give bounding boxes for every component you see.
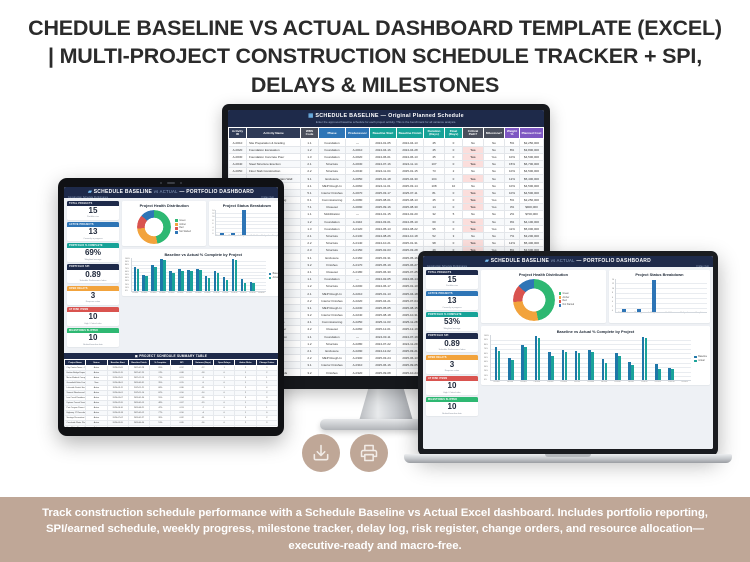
table-cell[interactable]: Yes bbox=[463, 218, 484, 225]
table-cell[interactable]: No bbox=[463, 168, 484, 175]
bar[interactable] bbox=[226, 280, 229, 291]
table-cell[interactable]: Yes bbox=[484, 153, 505, 160]
table-cell[interactable]: MEP Rough-In bbox=[319, 355, 346, 362]
project-summary-table[interactable]: Project NameStatusBaseline StartBaseline… bbox=[64, 359, 278, 427]
bar[interactable] bbox=[220, 233, 224, 235]
table-row[interactable]: A-0010Site Preparation & Grading1.1Found… bbox=[229, 139, 544, 146]
table-cell[interactable]: No bbox=[484, 218, 505, 225]
table-cell[interactable]: $2,250,000 bbox=[520, 196, 544, 203]
table-cell[interactable]: 2025-03-17 bbox=[370, 189, 397, 196]
table-cell[interactable]: 0 bbox=[445, 153, 463, 160]
tablet-baseline-actual-card[interactable]: Baseline vs Actual % Complete by Project… bbox=[122, 249, 278, 296]
table-cell[interactable]: Foundation Excavation bbox=[247, 146, 301, 153]
table-cell[interactable]: 2025-12-13 bbox=[128, 425, 149, 427]
table-cell[interactable]: A-0290 bbox=[346, 347, 370, 354]
bar[interactable] bbox=[252, 283, 255, 291]
table-cell[interactable]: 2025-08-01 bbox=[370, 196, 397, 203]
table-cell[interactable]: $3,200,000 bbox=[520, 232, 544, 239]
baseline-vs-actual-bar-chart[interactable]: 100%90%80%70%60%50%40%30%20%10%0%PRJ-001… bbox=[125, 258, 278, 294]
table-cell[interactable]: 2.2 bbox=[301, 355, 319, 362]
table-cell[interactable]: Mobilization bbox=[319, 211, 346, 218]
table-cell[interactable]: 10% bbox=[505, 182, 520, 189]
bar-pair[interactable] bbox=[205, 276, 211, 291]
table-cell[interactable]: 2025-03-24 bbox=[370, 355, 397, 362]
table-cell[interactable]: Foundation bbox=[319, 139, 346, 146]
table-cell[interactable]: 2024-02-05 bbox=[370, 276, 397, 283]
table-cell[interactable]: 1.3 bbox=[301, 153, 319, 160]
table-cell[interactable]: A-0140 bbox=[346, 240, 370, 247]
table-cell[interactable]: 0 bbox=[214, 425, 235, 427]
table-cell[interactable]: Structure bbox=[319, 232, 346, 239]
bar[interactable] bbox=[511, 360, 514, 380]
table-cell[interactable]: $5,400,000 bbox=[520, 175, 544, 182]
table-cell[interactable]: 2024-12-02 bbox=[370, 347, 397, 354]
table-cell[interactable]: 107 bbox=[424, 161, 445, 168]
table-cell[interactable]: 0 bbox=[445, 189, 463, 196]
bar[interactable] bbox=[244, 283, 247, 292]
table-cell[interactable]: 60 bbox=[424, 218, 445, 225]
bar[interactable] bbox=[524, 347, 527, 380]
table-cell[interactable]: 2025-04-30 bbox=[397, 175, 424, 182]
table-cell[interactable]: $4,500,000 bbox=[520, 189, 544, 196]
table-cell[interactable]: 0 bbox=[445, 139, 463, 146]
table-cell[interactable]: 73 bbox=[424, 168, 445, 175]
table-cell[interactable]: 0 bbox=[445, 161, 463, 168]
table-cell[interactable]: 2024-11-04 bbox=[370, 168, 397, 175]
table-cell[interactable]: No bbox=[463, 232, 484, 239]
table-cell[interactable]: A-0070 bbox=[346, 189, 370, 196]
bar[interactable] bbox=[671, 369, 674, 380]
kpi-card[interactable]: TOTAL PROJECTS15Portfolio size bbox=[426, 270, 478, 289]
table-cell[interactable]: 9% bbox=[505, 218, 520, 225]
table-cell[interactable]: $700,000 bbox=[520, 211, 544, 218]
bar[interactable] bbox=[538, 338, 541, 380]
table-cell[interactable]: 108 bbox=[424, 182, 445, 189]
bar[interactable] bbox=[217, 273, 220, 291]
bar-pair[interactable] bbox=[548, 352, 554, 380]
bar[interactable] bbox=[145, 276, 148, 291]
table-cell[interactable]: $4,500,000 bbox=[520, 153, 544, 160]
bar-pair[interactable] bbox=[521, 345, 527, 380]
table-cell[interactable]: 2024-02-20 bbox=[397, 211, 424, 218]
table-cell[interactable]: Enclosure bbox=[319, 347, 346, 354]
table-cell[interactable]: Yes bbox=[463, 175, 484, 182]
bar-pair[interactable] bbox=[223, 277, 229, 291]
column-header[interactable]: Float (Days) bbox=[445, 128, 463, 139]
table-cell[interactable]: Structure bbox=[319, 283, 346, 290]
bar[interactable] bbox=[637, 309, 641, 311]
table-cell[interactable]: $4,100,000 bbox=[520, 218, 544, 225]
table-cell[interactable]: 2025-08-18 bbox=[370, 311, 397, 318]
kpi-card[interactable]: AT RISK ITEMS10High / Critical risks bbox=[67, 307, 119, 326]
table-cell[interactable]: Active bbox=[86, 425, 107, 427]
table-cell[interactable]: Yes bbox=[484, 225, 505, 232]
table-cell[interactable]: 2025-11-03 bbox=[370, 319, 397, 326]
bar[interactable] bbox=[199, 270, 202, 291]
bar-pair[interactable] bbox=[214, 271, 220, 291]
table-cell[interactable]: Yes bbox=[463, 153, 484, 160]
bar[interactable] bbox=[498, 351, 501, 380]
table-row[interactable]: A-0020Foundation Excavation1.2Foundation… bbox=[229, 146, 544, 153]
table-cell[interactable]: Enclosure bbox=[319, 254, 346, 261]
table-cell[interactable]: — bbox=[346, 276, 370, 283]
table-cell[interactable]: Structure bbox=[319, 168, 346, 175]
table-cell[interactable]: 1.2 bbox=[301, 340, 319, 347]
kpi-card[interactable]: ACTIVE PROJECTS13Currently in progress bbox=[67, 222, 119, 241]
bar[interactable] bbox=[551, 356, 554, 380]
table-cell[interactable]: 45 bbox=[424, 139, 445, 146]
table-cell[interactable]: 14 bbox=[424, 204, 445, 211]
table-cell[interactable]: A-0160 bbox=[346, 254, 370, 261]
table-cell[interactable]: 2025-08-30 bbox=[397, 204, 424, 211]
table-cell[interactable]: 2024-06-13 bbox=[397, 153, 424, 160]
kpi-card[interactable]: ACTIVE PROJECTS13Currently in progress bbox=[426, 291, 478, 310]
bar-pair[interactable] bbox=[668, 368, 674, 380]
table-cell[interactable]: 81 bbox=[424, 189, 445, 196]
bar[interactable] bbox=[242, 210, 246, 234]
bar-pair[interactable] bbox=[508, 358, 514, 380]
kpi-card[interactable]: MILESTONES SLIPPED10Behind baseline date bbox=[426, 397, 478, 416]
table-cell[interactable]: 5.1 bbox=[301, 189, 319, 196]
table-cell[interactable]: 2024-11-01 bbox=[370, 182, 397, 189]
table-cell[interactable]: — bbox=[346, 333, 370, 340]
table-cell[interactable]: 2024-06-17 bbox=[370, 283, 397, 290]
column-header[interactable]: Duration (Days) bbox=[424, 128, 445, 139]
table-cell[interactable]: 2025-02-03 bbox=[370, 247, 397, 254]
table-cell[interactable]: $900,000 bbox=[520, 204, 544, 211]
table-cell[interactable]: No bbox=[484, 146, 505, 153]
table-cell[interactable]: 4.1 bbox=[301, 182, 319, 189]
table-cell[interactable]: A-0250 bbox=[346, 319, 370, 326]
table-cell[interactable]: Yes bbox=[463, 196, 484, 203]
table-cell[interactable]: A-0280 bbox=[346, 340, 370, 347]
bar-pair[interactable] bbox=[562, 350, 568, 380]
table-cell[interactable]: 0.91 bbox=[171, 425, 192, 427]
table-cell[interactable]: 3.1 bbox=[301, 362, 319, 369]
bar[interactable] bbox=[652, 280, 656, 312]
bar[interactable] bbox=[181, 271, 184, 291]
bar[interactable] bbox=[154, 267, 157, 291]
table-cell[interactable]: 10% bbox=[505, 168, 520, 175]
table-cell[interactable]: Foundation bbox=[319, 218, 346, 225]
table-cell[interactable]: 2.2 bbox=[301, 240, 319, 247]
table-cell[interactable]: 1.2 bbox=[301, 146, 319, 153]
bar[interactable] bbox=[235, 260, 238, 291]
table-cell[interactable]: Yes bbox=[484, 196, 505, 203]
table-cell[interactable]: A-0120 bbox=[346, 225, 370, 232]
table-cell[interactable]: A-0050 bbox=[346, 175, 370, 182]
kpi-card[interactable]: TOTAL PROJECTS15Portfolio size bbox=[67, 201, 119, 220]
table-cell[interactable]: 10% bbox=[505, 153, 520, 160]
table-cell[interactable]: 1.1 bbox=[301, 211, 319, 218]
table-row[interactable]: A-0050Floor Slab Construction2.2Structur… bbox=[229, 168, 544, 175]
table-cell[interactable]: A-0060 bbox=[346, 182, 370, 189]
table-cell[interactable]: 3.1 bbox=[301, 175, 319, 182]
kpi-card[interactable]: PORTFOLIO % COMPLETE53%Weighted average bbox=[426, 312, 478, 331]
table-cell[interactable]: No bbox=[463, 211, 484, 218]
table-cell[interactable]: Interior Finishes bbox=[319, 297, 346, 304]
table-cell[interactable]: Foundation bbox=[319, 146, 346, 153]
table-cell[interactable]: A-0230 bbox=[346, 304, 370, 311]
table-cell[interactable]: A-0010 bbox=[346, 146, 370, 153]
table-cell[interactable]: 4.1 bbox=[301, 268, 319, 275]
table-cell[interactable]: 2025-01-18 bbox=[370, 175, 397, 182]
table-cell[interactable]: 2025-05-19 bbox=[370, 261, 397, 268]
table-cell[interactable]: Steel Structure Erection bbox=[247, 161, 301, 168]
bar-pair[interactable] bbox=[655, 364, 661, 380]
bar-pair[interactable] bbox=[615, 353, 621, 380]
table-cell[interactable]: 2025-07-11 bbox=[397, 189, 424, 196]
table-cell[interactable]: $5,400,000 bbox=[520, 240, 544, 247]
bar-pair[interactable] bbox=[588, 350, 594, 380]
column-header[interactable]: Activity ID bbox=[229, 128, 247, 139]
table-cell[interactable]: 2024-08-22 bbox=[397, 225, 424, 232]
table-cell[interactable]: A-0310 bbox=[346, 362, 370, 369]
table-cell[interactable]: 2024-04-16 bbox=[370, 146, 397, 153]
table-cell[interactable]: 2.2 bbox=[301, 297, 319, 304]
column-header[interactable]: Critical Path? bbox=[463, 128, 484, 139]
table-cell[interactable]: 8% bbox=[505, 146, 520, 153]
table-cell[interactable]: 104 bbox=[424, 175, 445, 182]
table-cell[interactable]: 2025-01-31 bbox=[397, 240, 424, 247]
bar[interactable] bbox=[231, 233, 235, 235]
table-cell[interactable]: 2025-09-16 bbox=[370, 204, 397, 211]
table-cell[interactable]: A-0040 bbox=[229, 161, 247, 168]
table-cell[interactable]: No bbox=[484, 182, 505, 189]
table-cell[interactable]: 2024-01-15 bbox=[370, 211, 397, 218]
column-header[interactable]: Phase bbox=[319, 128, 346, 139]
bar-pair[interactable] bbox=[602, 359, 608, 380]
project-status-bar-chart[interactable]: 14121086420Not StartedPlanningIn Progres… bbox=[212, 210, 278, 238]
table-cell[interactable]: Finishes bbox=[319, 369, 346, 376]
table-cell[interactable]: 2024-10-18 bbox=[397, 232, 424, 239]
table-cell[interactable]: No bbox=[484, 175, 505, 182]
table-cell[interactable]: Interior Finishes bbox=[319, 189, 346, 196]
table-cell[interactable]: 2024-05-13 bbox=[370, 225, 397, 232]
bar-pair[interactable] bbox=[134, 267, 140, 291]
table-cell[interactable]: 1 bbox=[235, 425, 256, 427]
kpi-card[interactable]: OPEN DELAYS3Requires action bbox=[426, 355, 478, 374]
table-cell[interactable]: 0 bbox=[445, 175, 463, 182]
table-cell[interactable]: No bbox=[484, 161, 505, 168]
bar[interactable] bbox=[622, 309, 626, 311]
table-cell[interactable]: A-0010 bbox=[229, 139, 247, 146]
bar-pair[interactable] bbox=[151, 265, 157, 291]
table-cell[interactable]: 45 bbox=[424, 196, 445, 203]
table-cell[interactable]: 2025-05-05 bbox=[370, 304, 397, 311]
table-cell[interactable]: MEP Rough-In bbox=[319, 182, 346, 189]
bar[interactable] bbox=[658, 369, 661, 381]
table-cell[interactable]: A-0020 bbox=[229, 146, 247, 153]
table-cell[interactable]: 2025-08-13 bbox=[397, 196, 424, 203]
table-cell[interactable]: 2024-06-01 bbox=[370, 153, 397, 160]
table-cell[interactable]: Yes bbox=[463, 204, 484, 211]
table-cell[interactable]: 2025-06-30 bbox=[370, 268, 397, 275]
table-cell[interactable]: Interior Finishes bbox=[319, 362, 346, 369]
table-cell[interactable]: 2.3 bbox=[301, 247, 319, 254]
table-cell[interactable]: Structure bbox=[319, 161, 346, 168]
print-button[interactable] bbox=[350, 434, 388, 472]
table-cell[interactable]: A-0300 bbox=[346, 355, 370, 362]
column-header[interactable]: Baseline Finish bbox=[397, 128, 424, 139]
table-cell[interactable]: 4.1 bbox=[301, 319, 319, 326]
table-cell[interactable]: 2024-10-21 bbox=[370, 240, 397, 247]
table-cell[interactable]: 45 bbox=[424, 146, 445, 153]
table-cell[interactable]: Site Preparation & Grading bbox=[247, 139, 301, 146]
table-cell[interactable]: 3.1 bbox=[301, 304, 319, 311]
table-cell[interactable]: $4,500,000 bbox=[520, 182, 544, 189]
table-cell[interactable]: 3.2 bbox=[301, 369, 319, 376]
table-cell[interactable]: 5 bbox=[445, 211, 463, 218]
table-cell[interactable]: Yes bbox=[463, 161, 484, 168]
download-button[interactable] bbox=[302, 434, 340, 472]
baseline-vs-actual-bar-chart[interactable]: 100%90%80%70%60%50%40%30%20%10%0%PRJ-001… bbox=[484, 335, 707, 383]
table-cell[interactable]: 2025-01-13 bbox=[370, 290, 397, 297]
table-cell[interactable]: 3.1 bbox=[301, 254, 319, 261]
table-cell[interactable]: 2025-01-15 bbox=[397, 168, 424, 175]
bar-pair[interactable] bbox=[535, 336, 541, 380]
bar[interactable] bbox=[605, 363, 608, 380]
column-header[interactable]: WBS Code bbox=[301, 128, 319, 139]
table-cell[interactable]: No bbox=[484, 139, 505, 146]
table-cell[interactable]: $2,250,000 bbox=[520, 139, 544, 146]
table-cell[interactable]: Closeout bbox=[319, 326, 346, 333]
table-cell[interactable]: A-0150 bbox=[346, 247, 370, 254]
table-cell[interactable]: 45 bbox=[424, 153, 445, 160]
table-cell[interactable]: Finishes bbox=[319, 261, 346, 268]
column-header[interactable]: Predecessor bbox=[346, 128, 370, 139]
table-cell[interactable]: Commissioning bbox=[319, 196, 346, 203]
table-cell[interactable]: No bbox=[463, 139, 484, 146]
table-cell[interactable]: 2025-06-16 bbox=[370, 362, 397, 369]
table-cell[interactable]: 15% bbox=[505, 161, 520, 168]
table-cell[interactable]: 2024-04-28 bbox=[397, 146, 424, 153]
table-cell[interactable]: Closeout bbox=[319, 268, 346, 275]
laptop-health-donut-card[interactable]: Project Health Distribution GreenAmberRe… bbox=[481, 270, 606, 324]
table-cell[interactable]: 0 bbox=[445, 240, 463, 247]
table-cell[interactable]: 2.1 bbox=[301, 232, 319, 239]
table-cell[interactable]: Foundation bbox=[319, 276, 346, 283]
bar-pair[interactable] bbox=[160, 259, 166, 291]
table-cell[interactable]: No bbox=[484, 240, 505, 247]
table-cell[interactable]: Yes bbox=[463, 225, 484, 232]
table-cell[interactable]: 2 bbox=[445, 168, 463, 175]
table-cell[interactable]: 2.1 bbox=[301, 347, 319, 354]
project-status-bar-chart[interactable]: 14121086420Not StartedPlanningIn Progres… bbox=[612, 279, 707, 315]
bar-pair[interactable] bbox=[628, 362, 634, 380]
bar-pair[interactable] bbox=[642, 337, 648, 380]
project-health-donut[interactable] bbox=[513, 279, 555, 321]
table-cell[interactable]: 2025-03-31 bbox=[370, 254, 397, 261]
table-cell[interactable]: Briar Ridge Renovations bbox=[65, 425, 86, 427]
table-cell[interactable]: A-0080 bbox=[346, 196, 370, 203]
table-cell[interactable]: Structure bbox=[319, 340, 346, 347]
table-cell[interactable]: 0 bbox=[445, 225, 463, 232]
bar-pair[interactable] bbox=[495, 347, 501, 380]
table-cell[interactable]: A-0180 bbox=[346, 268, 370, 275]
table-cell[interactable]: 2024-01-05 bbox=[370, 139, 397, 146]
bar[interactable] bbox=[631, 365, 634, 380]
table-cell[interactable]: 58% bbox=[150, 425, 171, 427]
table-cell[interactable]: A-0220 bbox=[346, 297, 370, 304]
table-cell[interactable]: Floor Slab Construction bbox=[247, 168, 301, 175]
table-cell[interactable]: MEP Rough-In bbox=[319, 290, 346, 297]
table-cell[interactable]: A-0040 bbox=[346, 168, 370, 175]
table-cell[interactable]: 0 bbox=[445, 218, 463, 225]
table-cell[interactable]: Yes bbox=[463, 146, 484, 153]
tablet-health-donut-card[interactable]: Project Health Distribution GreenAmberRe… bbox=[122, 201, 206, 247]
kpi-card[interactable]: AT RISK ITEMS10High / Critical risks bbox=[426, 376, 478, 395]
bar-pair[interactable] bbox=[575, 351, 581, 380]
table-cell[interactable]: A-0170 bbox=[346, 261, 370, 268]
table-cell[interactable]: Structure bbox=[319, 247, 346, 254]
table-cell[interactable]: 11% bbox=[505, 225, 520, 232]
column-header[interactable]: Baseline Start bbox=[370, 128, 397, 139]
table-cell[interactable]: Foundation bbox=[319, 225, 346, 232]
table-cell[interactable]: 52 bbox=[424, 232, 445, 239]
column-header[interactable]: Milestone? bbox=[484, 128, 505, 139]
table-cell[interactable]: 2024-07-16 bbox=[370, 161, 397, 168]
table-cell[interactable]: 5% bbox=[505, 139, 520, 146]
table-cell[interactable]: Closeout bbox=[319, 204, 346, 211]
table-cell[interactable]: A-0130 bbox=[346, 232, 370, 239]
laptop-status-bar-card[interactable]: Project Status Breakdown 14121086420Not … bbox=[609, 270, 710, 324]
table-cell[interactable]: 10% bbox=[505, 189, 520, 196]
table-cell[interactable]: 98 bbox=[424, 240, 445, 247]
table-cell[interactable]: A-0090 bbox=[346, 204, 370, 211]
table-cell[interactable]: No bbox=[484, 211, 505, 218]
table-cell[interactable]: 1.3 bbox=[301, 225, 319, 232]
table-cell[interactable]: 0 bbox=[445, 196, 463, 203]
bar-pair[interactable] bbox=[169, 271, 175, 291]
table-cell[interactable]: $4,500,000 bbox=[520, 168, 544, 175]
table-cell[interactable]: 1 bbox=[256, 425, 277, 427]
table-cell[interactable]: 7% bbox=[505, 232, 520, 239]
table-cell[interactable]: 2.1 bbox=[301, 290, 319, 297]
table-cell[interactable]: — bbox=[346, 211, 370, 218]
column-header[interactable]: Weight % bbox=[505, 128, 520, 139]
table-cell[interactable]: A-0050 bbox=[229, 168, 247, 175]
table-cell[interactable]: -11 bbox=[192, 425, 213, 427]
tablet-status-bar-card[interactable]: Project Status Breakdown 14121086420Not … bbox=[209, 201, 278, 247]
table-cell[interactable]: 1.1 bbox=[301, 333, 319, 340]
kpi-card[interactable]: OPEN DELAYS3Requires action bbox=[67, 286, 119, 305]
table-cell[interactable]: Foundation Concrete Pour bbox=[247, 153, 301, 160]
table-cell[interactable]: 10 bbox=[445, 182, 463, 189]
bar[interactable] bbox=[172, 273, 175, 291]
bar[interactable] bbox=[645, 338, 648, 380]
column-header[interactable]: Activity Name bbox=[247, 128, 301, 139]
table-cell[interactable]: 4.2 bbox=[301, 326, 319, 333]
table-cell[interactable]: 3.2 bbox=[301, 261, 319, 268]
table-cell[interactable]: Foundation bbox=[319, 153, 346, 160]
table-cell[interactable]: Foundation bbox=[319, 333, 346, 340]
table-cell[interactable]: 5% bbox=[505, 196, 520, 203]
table-cell[interactable]: Yes bbox=[463, 189, 484, 196]
table-cell[interactable]: 2.1 bbox=[301, 161, 319, 168]
table-cell[interactable]: 2025-12-01 bbox=[370, 326, 397, 333]
kpi-card[interactable]: PORTFOLIO SPI0.89Schedule Performance In… bbox=[67, 264, 119, 283]
table-cell[interactable]: 6.1 bbox=[301, 196, 319, 203]
table-cell[interactable]: 2024-07-22 bbox=[370, 340, 397, 347]
table-cell[interactable]: Commissioning bbox=[319, 319, 346, 326]
table-cell[interactable]: A-0200 bbox=[346, 283, 370, 290]
kpi-card[interactable]: MILESTONES SLIPPED10Behind baseline date bbox=[67, 328, 119, 347]
bar-pair[interactable] bbox=[250, 282, 256, 291]
table-cell[interactable]: 12% bbox=[505, 240, 520, 247]
table-cell[interactable]: 2024-04-13 bbox=[397, 139, 424, 146]
bar-pair[interactable] bbox=[232, 259, 238, 291]
